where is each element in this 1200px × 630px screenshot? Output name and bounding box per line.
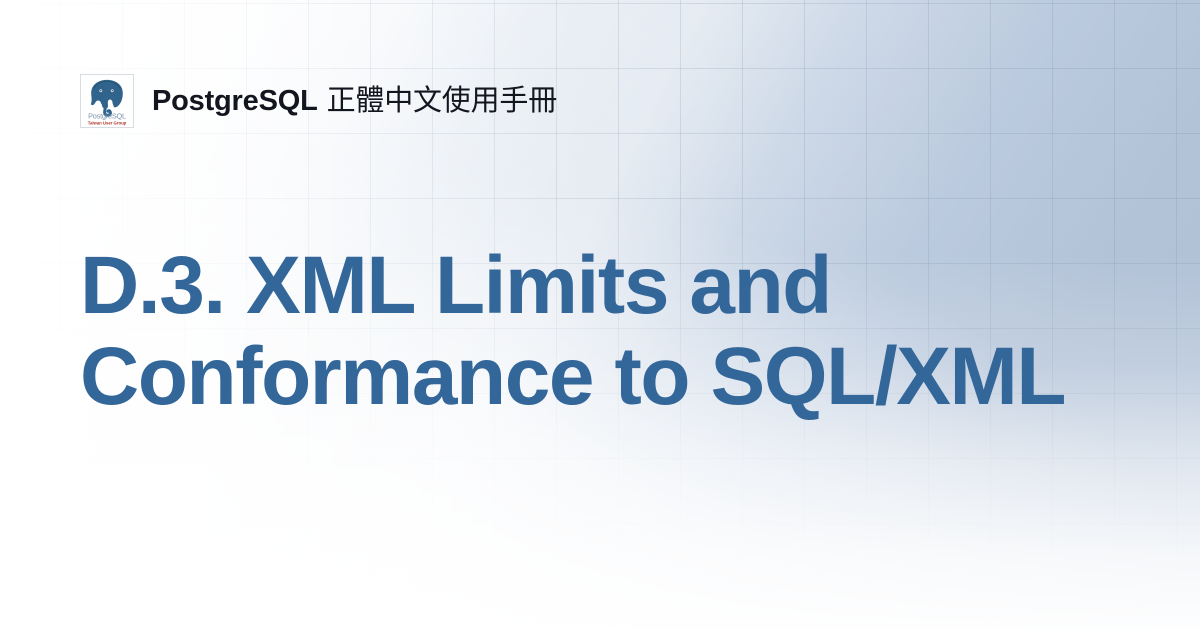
page-title: D.3. XML Limits and Conformance to SQL/X… [80, 240, 1080, 423]
headline-block: D.3. XML Limits and Conformance to SQL/X… [80, 130, 1120, 566]
site-title-cjk: 正體中文使用手冊 [318, 83, 557, 117]
svg-text:Taiwan User Group: Taiwan User Group [88, 121, 127, 126]
card-content: PostgreSQL Taiwan User Group PostgreSQL … [0, 0, 1200, 630]
open-graph-card: PostgreSQL Taiwan User Group PostgreSQL … [0, 0, 1200, 630]
site-title-latin: PostgreSQL [152, 85, 318, 117]
svg-text:PostgreSQL: PostgreSQL [88, 112, 126, 121]
brand-header: PostgreSQL Taiwan User Group PostgreSQL … [80, 72, 1120, 130]
postgresql-elephant-logo-icon: PostgreSQL Taiwan User Group [80, 74, 134, 128]
site-title: PostgreSQL 正體中文使用手冊 [152, 86, 557, 116]
